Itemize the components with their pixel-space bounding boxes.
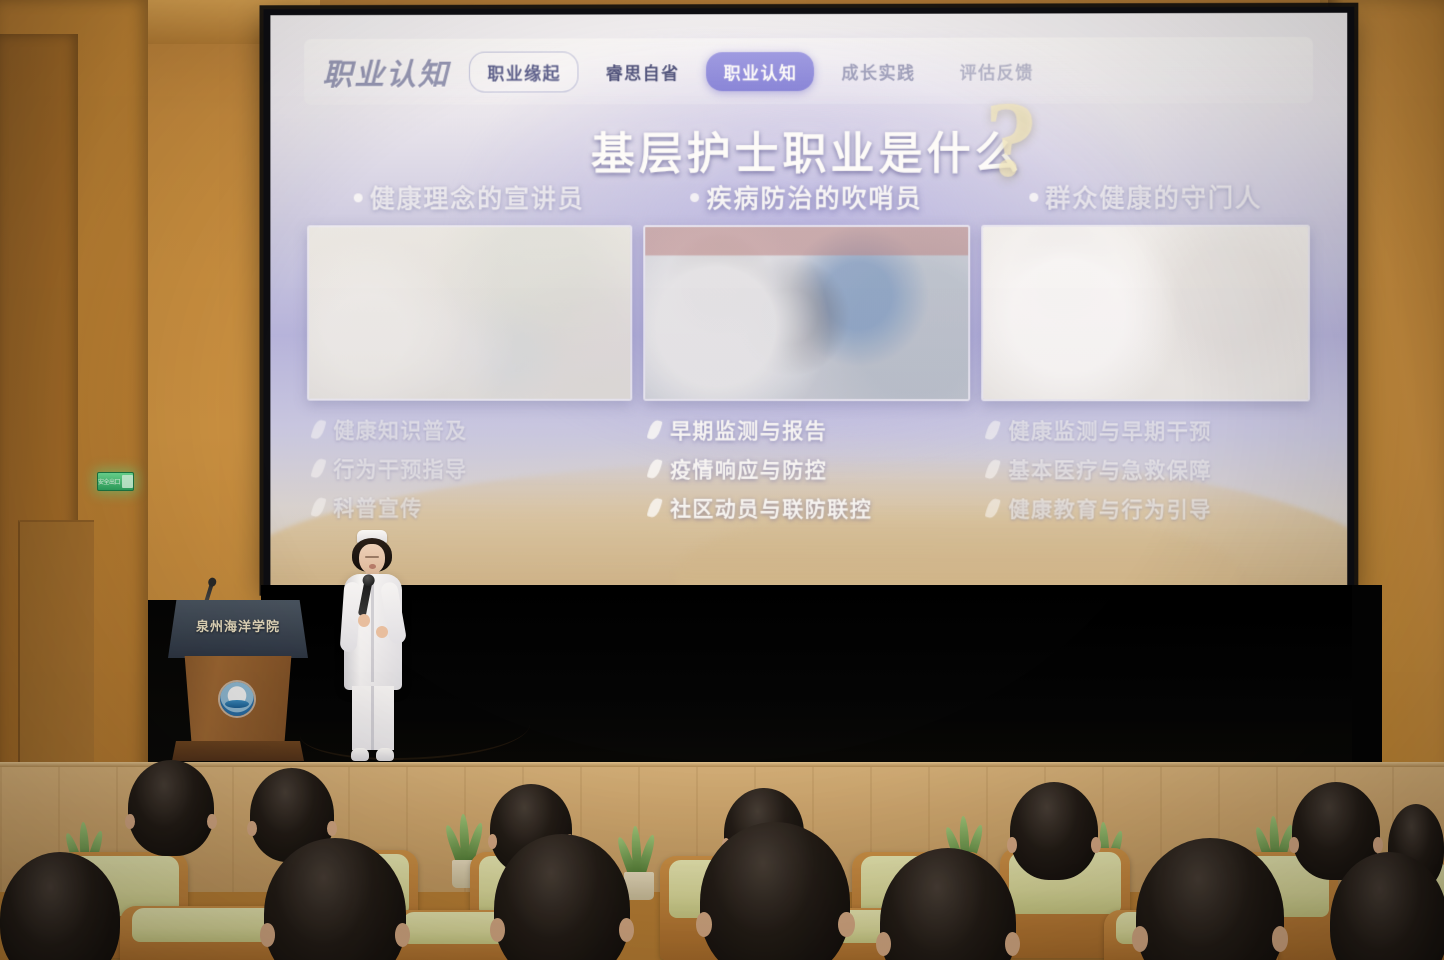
slide-nav-bar: 职业认知 职业缘起 睿思自省 职业认知 成长实践 评估反馈 bbox=[305, 37, 1313, 105]
slide-title: 基层护士职业是什么 bbox=[270, 117, 1347, 182]
presenter-nurse bbox=[330, 530, 416, 770]
podium-base bbox=[172, 741, 304, 761]
bullet-text: 社区动员与联防联控 bbox=[670, 493, 872, 523]
emergency-exit-sign: 安全出口 bbox=[97, 472, 134, 491]
column-3-heading-text: 群众健康的守门人 bbox=[1045, 179, 1262, 215]
leaf-bullet-icon bbox=[310, 496, 326, 518]
audience-area bbox=[0, 760, 1444, 960]
exit-sign-label: 安全出口 bbox=[98, 477, 120, 486]
leaf-bullet-icon bbox=[985, 458, 1001, 480]
column-2-bullets: 早期监测与报告 疫情响应与防控 社区动员与联防联控 bbox=[643, 415, 970, 523]
list-item: 基本医疗与急救保障 bbox=[987, 455, 1310, 486]
column-2-heading-text: 疾病防治的吹哨员 bbox=[707, 179, 923, 215]
photo-health-campaign bbox=[309, 227, 630, 399]
bullet-text: 科普宣传 bbox=[333, 493, 422, 523]
leaf-bullet-icon bbox=[310, 458, 326, 480]
list-item: 健康监测与早期干预 bbox=[987, 415, 1310, 445]
running-man-icon bbox=[122, 475, 133, 488]
slide-nav-watermark: 职业认知 bbox=[322, 50, 449, 94]
leaf-bullet-icon bbox=[647, 458, 663, 480]
bullet-dot-icon bbox=[354, 193, 363, 202]
column-1-photo bbox=[307, 225, 632, 401]
presenter-trousers bbox=[352, 686, 394, 750]
slide-column-1: 健康理念的宣讲员 健康知识普及 行为干预指导 bbox=[307, 177, 632, 552]
column-3-heading: 群众健康的守门人 bbox=[981, 177, 1310, 217]
podium-label: 泉州海洋学院 bbox=[168, 616, 308, 635]
slide-tab-0[interactable]: 职业缘起 bbox=[469, 51, 578, 92]
slide-columns: 健康理念的宣讲员 健康知识普及 行为干预指导 bbox=[307, 177, 1311, 554]
column-1-heading: 健康理念的宣讲员 bbox=[307, 177, 632, 217]
school-emblem bbox=[220, 682, 254, 716]
slide-column-2: 疾病防治的吹哨员 早期监测与报告 疫情响应与防控 bbox=[643, 177, 970, 553]
bullet-dot-icon bbox=[1029, 193, 1038, 202]
slide-tab-2[interactable]: 职业认知 bbox=[707, 52, 815, 91]
bullet-dot-icon bbox=[691, 193, 700, 202]
column-2-heading: 疾病防治的吹哨员 bbox=[643, 177, 970, 217]
list-item: 早期监测与报告 bbox=[649, 415, 970, 445]
list-item: 疫情响应与防控 bbox=[649, 454, 970, 484]
column-3-bullets: 健康监测与早期干预 基本医疗与急救保障 健康教育与行为引导 bbox=[981, 415, 1310, 524]
slide-tab-1[interactable]: 睿思自省 bbox=[589, 52, 697, 91]
list-item: 健康知识普及 bbox=[313, 415, 632, 445]
presenter-right-hand bbox=[376, 626, 388, 638]
list-item: 科普宣传 bbox=[313, 493, 632, 523]
presenter-left-hand bbox=[358, 614, 370, 627]
slide-column-3: 群众健康的守门人 健康监测与早期干预 基本医疗与急救保障 bbox=[981, 177, 1310, 554]
audience-head bbox=[128, 760, 214, 856]
bullet-text: 健康教育与行为引导 bbox=[1008, 494, 1211, 524]
photo-clinic-consultation bbox=[983, 227, 1308, 400]
list-item: 行为干预指导 bbox=[313, 454, 632, 484]
leaf-bullet-icon bbox=[985, 497, 1001, 519]
list-item: 健康教育与行为引导 bbox=[987, 494, 1310, 525]
column-1-heading-text: 健康理念的宣讲员 bbox=[370, 180, 585, 216]
photo-epidemic-checkpoint bbox=[645, 227, 968, 399]
leaf-bullet-icon bbox=[310, 419, 326, 441]
bullet-text: 早期监测与报告 bbox=[670, 415, 827, 445]
slide-tab-3[interactable]: 成长实践 bbox=[824, 51, 932, 90]
column-1-bullets: 健康知识普及 行为干预指导 科普宣传 bbox=[307, 415, 632, 523]
projection-screen-frame: 职业认知 职业缘起 睿思自省 职业认知 成长实践 评估反馈 基层护士职业是什么 … bbox=[263, 7, 1354, 595]
bullet-text: 健康监测与早期干预 bbox=[1008, 415, 1211, 445]
auditorium-photo: 安全出口 职业认知 职业缘起 睿思自省 职业认知 成长实践 评估反馈 基层护士职… bbox=[0, 0, 1444, 960]
leaf-bullet-icon bbox=[985, 419, 1001, 441]
list-item: 社区动员与联防联控 bbox=[649, 493, 970, 524]
bullet-text: 健康知识普及 bbox=[333, 415, 467, 445]
bullet-text: 基本医疗与急救保障 bbox=[1008, 455, 1211, 485]
bullet-text: 疫情响应与防控 bbox=[670, 454, 827, 484]
audience-head bbox=[1010, 782, 1098, 880]
bullet-text: 行为干预指导 bbox=[333, 454, 467, 484]
stage-backdrop-right bbox=[1352, 585, 1382, 770]
side-door[interactable] bbox=[18, 520, 94, 782]
leaf-bullet-icon bbox=[647, 419, 663, 441]
slide-nav-tabs: 职业缘起 睿思自省 职业认知 成长实践 评估反馈 bbox=[469, 50, 1050, 92]
column-3-photo bbox=[981, 225, 1310, 402]
podium: 泉州海洋学院 bbox=[168, 586, 308, 771]
projection-screen: 职业认知 职业缘起 睿思自省 职业认知 成长实践 评估反馈 基层护士职业是什么 … bbox=[270, 13, 1347, 588]
leaf-bullet-icon bbox=[647, 497, 663, 519]
column-2-photo bbox=[643, 225, 970, 401]
